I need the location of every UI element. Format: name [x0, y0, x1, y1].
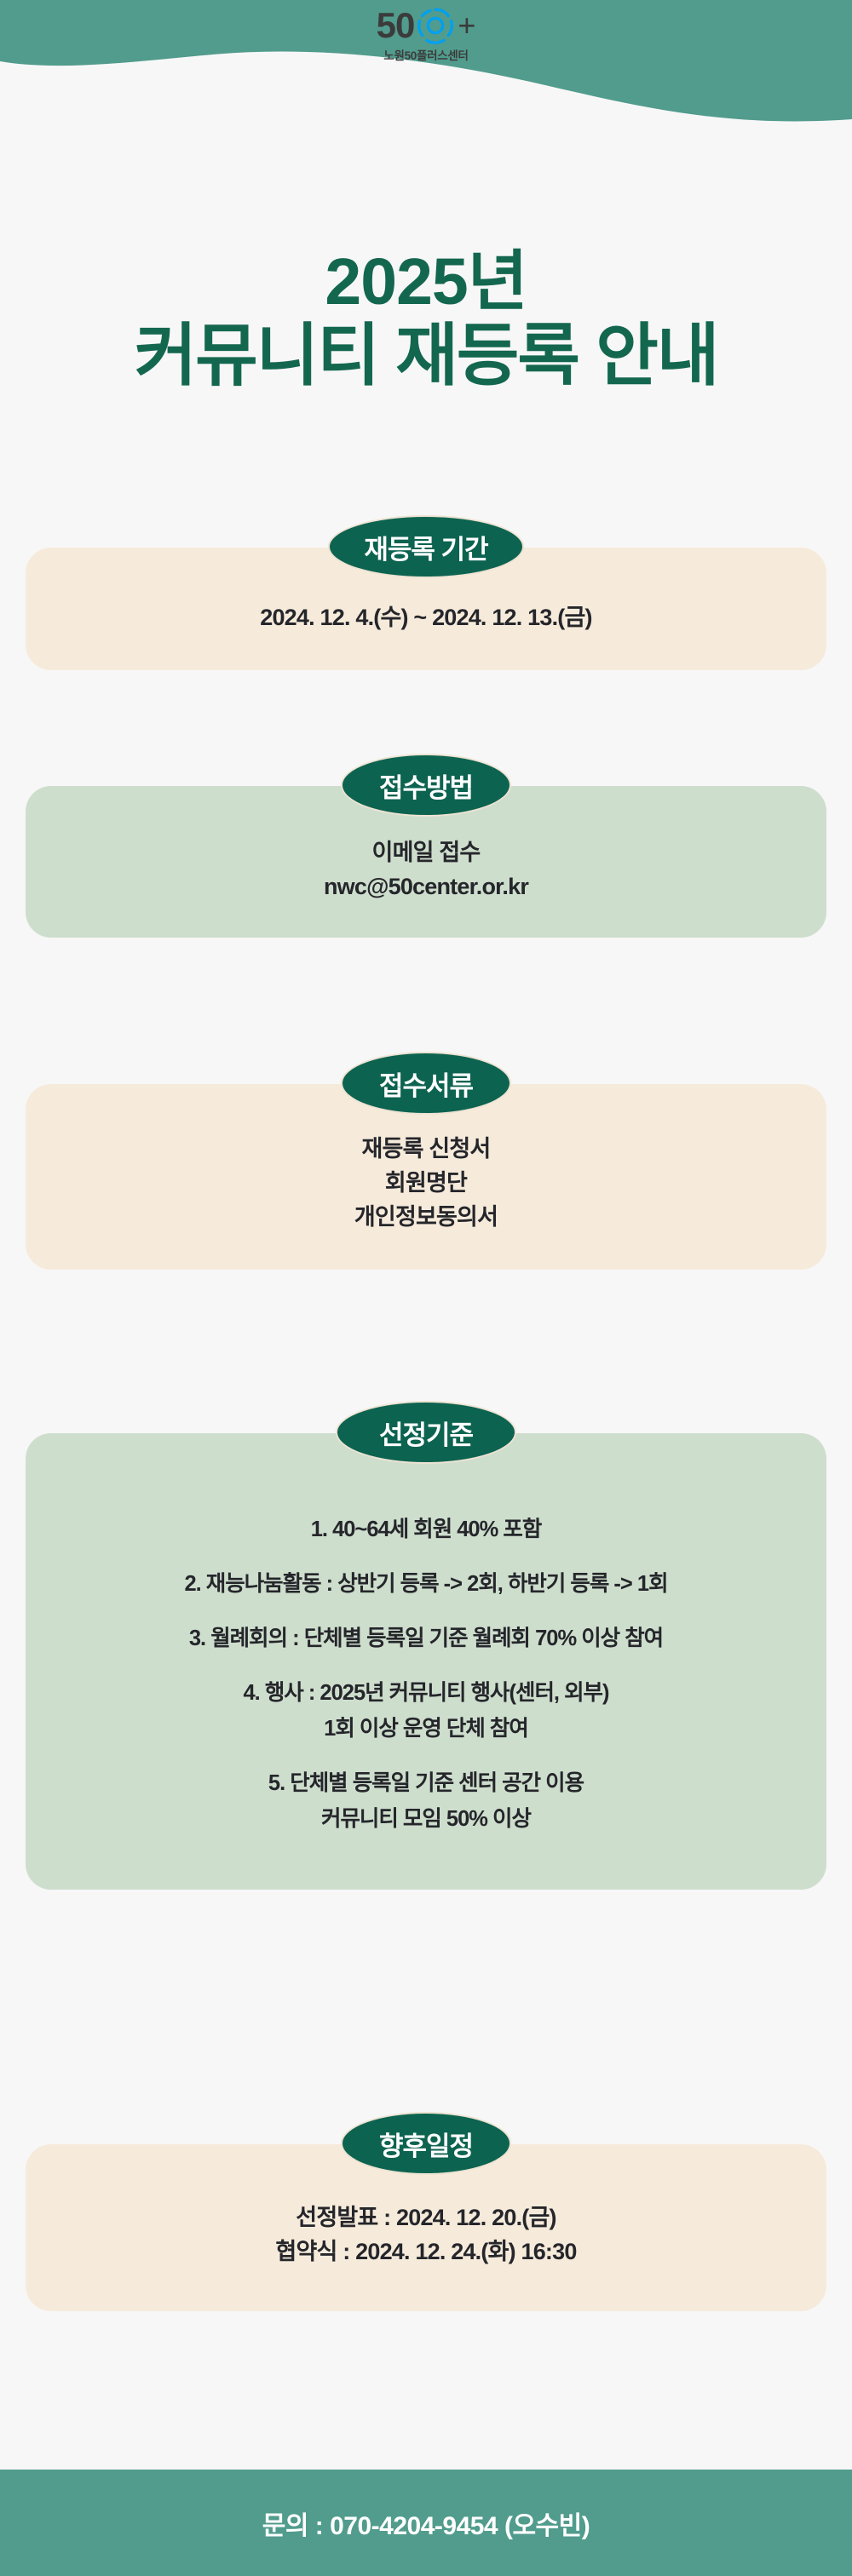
section-required-documents: 접수서류 재등록 신청서 회원명단 개인정보동의서: [26, 1052, 826, 1270]
section-selection-criteria: 선정기준 1. 40~64세 회원 40% 포함 2. 재능나눔활동 : 상반기…: [26, 1401, 826, 1890]
criteria-item-5-cont: 커뮤니티 모임 50% 이상: [41, 1804, 811, 1833]
title-main: 커뮤니티 재등록 안내: [0, 317, 852, 395]
logo-ring-icon: [416, 6, 455, 45]
pill-selection-criteria: 선정기준: [336, 1401, 516, 1464]
card-selection-criteria: 1. 40~64세 회원 40% 포함 2. 재능나눔활동 : 상반기 등록 -…: [26, 1433, 826, 1890]
pill-registration-period: 재등록 기간: [328, 515, 524, 578]
logo-mark: 50 +: [377, 7, 476, 44]
logo-caption: 노원50플러스센터: [0, 46, 852, 63]
section-upcoming-schedule: 향후일정 선정발표 : 2024. 12. 20.(금) 협약식 : 2024.…: [26, 2112, 826, 2311]
criteria-item-5: 5. 단체별 등록일 기준 센터 공간 이용: [41, 1769, 811, 1798]
schedule-agreement-ceremony: 협약식 : 2024. 12. 24.(화) 16:30: [51, 2235, 801, 2269]
footer-contact: 문의 : 070-4204-9454 (오수빈): [262, 2504, 590, 2542]
application-email[interactable]: nwc@50center.or.kr: [51, 869, 801, 904]
document-item: 회원명단: [51, 1166, 801, 1200]
page-title: 2025년 커뮤니티 재등록 안내: [0, 245, 852, 395]
arched-subtitle: 노원50플러스센터: [0, 152, 852, 230]
footer-bar: 문의 : 070-4204-9454 (오수빈): [0, 2470, 852, 2576]
poster-root: 50 + 노원50플러스센터 노원50플러스센터: [0, 0, 852, 2576]
document-item: 개인정보동의서: [51, 1200, 801, 1234]
application-method-label: 이메일 접수: [51, 835, 801, 869]
registration-period-dates: 2024. 12. 4.(수) ~ 2024. 12. 13.(금): [51, 600, 801, 634]
logo-numeral: 50: [377, 8, 415, 43]
document-item: 재등록 신청서: [51, 1132, 801, 1166]
pill-required-documents: 접수서류: [341, 1052, 511, 1115]
criteria-item-1: 1. 40~64세 회원 40% 포함: [41, 1515, 811, 1544]
logo-plus-sign: +: [458, 9, 475, 43]
schedule-announcement: 선정발표 : 2024. 12. 20.(금): [51, 2200, 801, 2235]
criteria-item-3: 3. 월례회의 : 단체별 등록일 기준 월례회 70% 이상 참여: [41, 1624, 811, 1653]
center-logo: 50 + 노원50플러스센터: [0, 7, 852, 63]
criteria-item-2: 2. 재능나눔활동 : 상반기 등록 -> 2회, 하반기 등록 -> 1회: [41, 1569, 811, 1598]
pill-upcoming-schedule: 향후일정: [341, 2112, 511, 2175]
criteria-item-4: 4. 행사 : 2025년 커뮤니티 행사(센터, 외부): [41, 1678, 811, 1707]
pill-application-method: 접수방법: [341, 754, 511, 817]
section-registration-period: 재등록 기간 2024. 12. 4.(수) ~ 2024. 12. 13.(금…: [26, 515, 826, 670]
section-application-method: 접수방법 이메일 접수 nwc@50center.or.kr: [26, 754, 826, 938]
title-year: 2025년: [0, 245, 852, 318]
criteria-item-4-cont: 1회 이상 운영 단체 참여: [41, 1714, 811, 1743]
